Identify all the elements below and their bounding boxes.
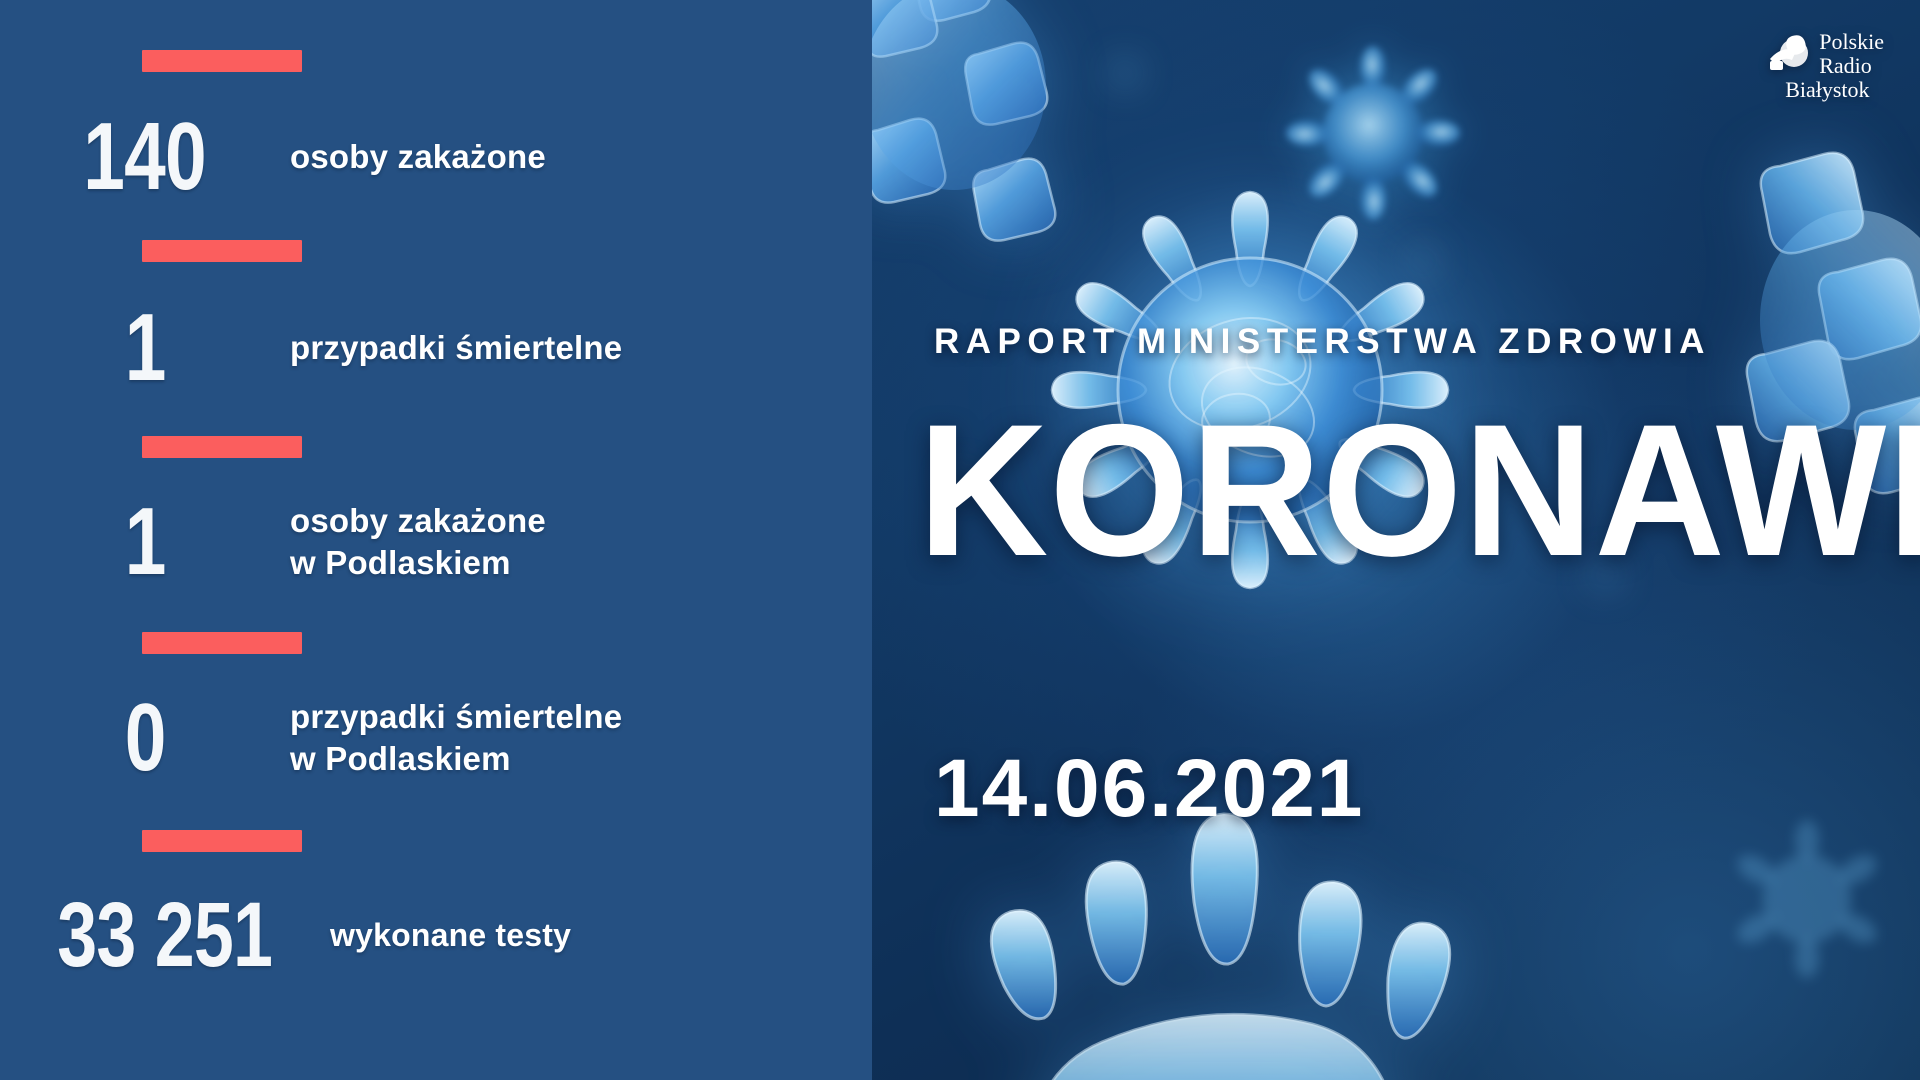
bokeh-dot (1412, 250, 1434, 272)
stat-value: 33 251 (58, 889, 273, 981)
logo-line-2: Radio (1819, 54, 1884, 78)
stat-row: 33 251 wykonane testy (0, 830, 872, 1010)
stat-value-cell: 140 (0, 109, 290, 205)
stat-value-cell: 0 (0, 690, 290, 786)
stat-label-line1: przypadki śmiertelne (290, 327, 622, 369)
stat-label: wykonane testy (330, 915, 571, 956)
virus-particle-icon (1722, 814, 1892, 984)
virus-particle-icon (1278, 38, 1468, 228)
stat-row: 1 osoby zakażone w Podlaskiem (0, 436, 872, 620)
radio-microphone-icon (1768, 33, 1810, 81)
stat-label-line1: wykonane testy (330, 915, 571, 956)
logo-line-1: Polskie (1819, 30, 1884, 54)
divider-bar (142, 50, 302, 72)
stat-value-cell: 1 (0, 300, 290, 396)
stat-label-line1: osoby zakażone (290, 500, 546, 542)
stat-value-cell: 33 251 (0, 889, 330, 981)
report-kicker: RAPORT MINISTERSTWA ZDROWIA (934, 322, 1711, 362)
virus-particle-icon (872, 0, 1112, 310)
stat-label: przypadki śmiertelne w Podlaskiem (290, 696, 622, 780)
coronavirus-image-panel: RAPORT MINISTERSTWA ZDROWIA KORONAWIRUS … (872, 0, 1920, 1080)
stat-value: 0 (125, 690, 166, 786)
stat-label: osoby zakażone w Podlaskiem (290, 500, 546, 584)
report-date: 14.06.2021 (934, 742, 1364, 836)
stat-row: 0 przypadki śmiertelne w Podlaskiem (0, 632, 872, 816)
logo-line-3: Białystok (1785, 78, 1884, 102)
bokeh-dot (1112, 60, 1138, 86)
polskie-radio-bialystok-logo: Polskie Radio Białystok (1768, 30, 1884, 101)
stat-value: 1 (125, 300, 166, 396)
stat-label: osoby zakażone (290, 136, 546, 178)
stat-label-line1: osoby zakażone (290, 136, 546, 178)
stat-value-cell: 1 (0, 494, 290, 590)
stat-label-line2: w Podlaskiem (290, 738, 622, 780)
stat-row: 140 osoby zakażone (0, 50, 872, 230)
stat-label: przypadki śmiertelne (290, 327, 622, 369)
logo-text: Polskie Radio Białystok (1819, 30, 1884, 101)
divider-bar (142, 240, 302, 262)
stat-row: 1 przypadki śmiertelne (0, 240, 872, 424)
divider-bar (142, 830, 302, 852)
page-title: KORONAWIRUS (918, 396, 1920, 584)
coronavirus-report-poster: 140 osoby zakażone 1 przypadki śmierteln… (0, 0, 1920, 1080)
stat-value: 140 (84, 109, 207, 205)
divider-bar (142, 632, 302, 654)
stat-label-line2: w Podlaskiem (290, 542, 546, 584)
stat-label-line1: przypadki śmiertelne (290, 696, 622, 738)
divider-bar (142, 436, 302, 458)
stat-value: 1 (125, 494, 166, 590)
statistics-panel: 140 osoby zakażone 1 przypadki śmierteln… (0, 0, 872, 1080)
